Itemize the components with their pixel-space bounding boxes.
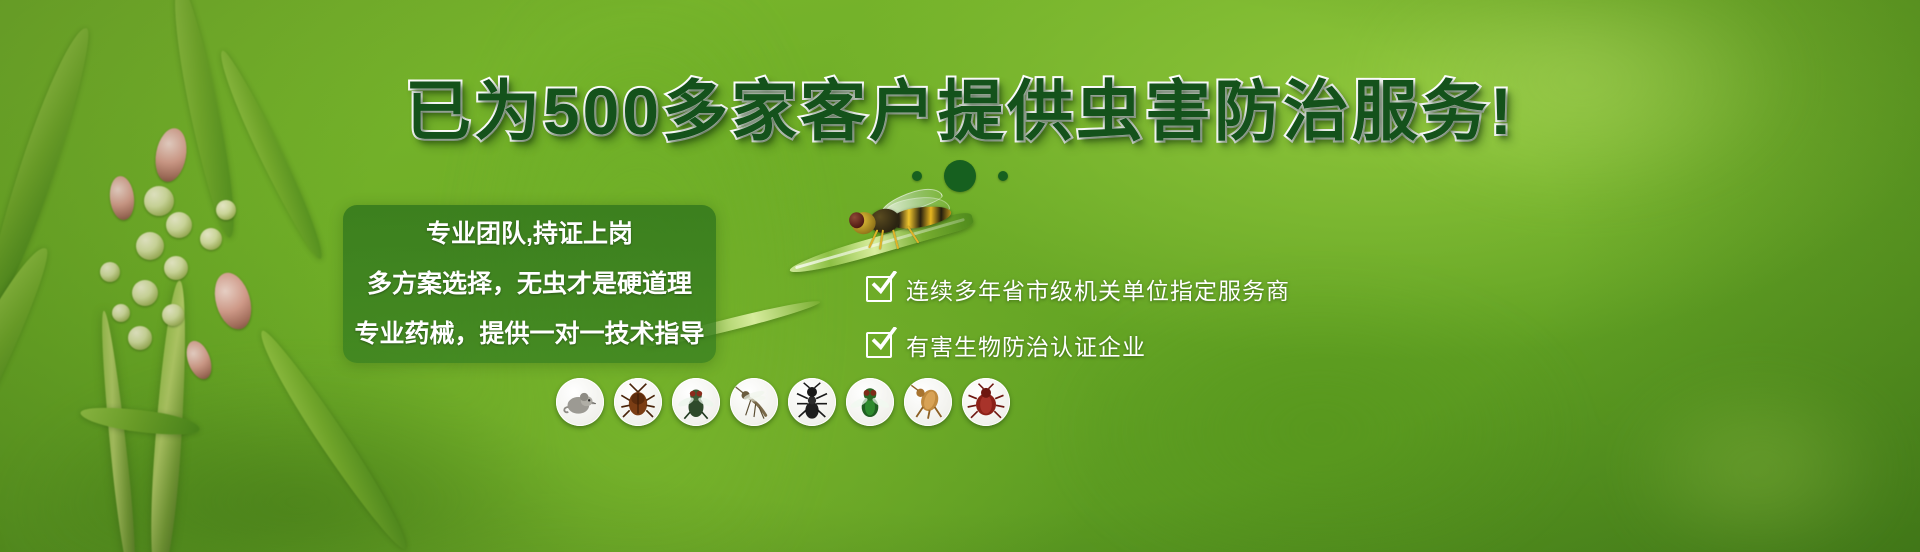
mosquito-icon[interactable]: 蚊 <box>730 378 778 426</box>
flea-icon[interactable]: 跳蚤 <box>904 378 952 426</box>
checkbox-checked-icon <box>866 276 892 302</box>
decorative-dots <box>0 160 1920 192</box>
dot-small-left-icon <box>912 171 922 181</box>
promo-banner: 已为500多家客户提供虫害防治服务! 专业团队,持证上岗 多方案选择，无虫才是硬… <box>0 0 1920 552</box>
feature-line-3: 专业药械，提供一对一技术指导 <box>343 314 716 350</box>
checklist-item: 有害生物防治认证企业 <box>866 328 1290 362</box>
pest-icon-row: 鼠 蟑螂 苍蝇 <box>556 378 1010 426</box>
feature-highlight-box: 专业团队,持证上岗 多方案选择，无虫才是硬道理 专业药械，提供一对一技术指导 <box>343 205 716 363</box>
mouse-icon[interactable]: 鼠 <box>556 378 604 426</box>
page-title: 已为500多家客户提供虫害防治服务! <box>0 78 1920 144</box>
bedbug-icon[interactable]: 臭虫 <box>962 378 1010 426</box>
checkbox-checked-icon <box>866 332 892 358</box>
credentials-checklist: 连续多年省市级机关单位指定服务商 有害生物防治认证企业 <box>866 272 1290 384</box>
feature-line-2: 多方案选择，无虫才是硬道理 <box>343 264 716 300</box>
blowfly-icon[interactable]: 绿头蝇 <box>846 378 894 426</box>
ant-icon[interactable]: 蚂蚁 <box>788 378 836 426</box>
dot-large-center-icon <box>944 160 976 192</box>
fly-icon[interactable]: 苍蝇 <box>672 378 720 426</box>
feature-line-1: 专业团队,持证上岗 <box>343 214 716 250</box>
checklist-item-label: 有害生物防治认证企业 <box>906 328 1146 362</box>
checklist-item-label: 连续多年省市级机关单位指定服务商 <box>906 272 1290 306</box>
dot-small-right-icon <box>998 171 1008 181</box>
cockroach-icon[interactable]: 蟑螂 <box>614 378 662 426</box>
checklist-item: 连续多年省市级机关单位指定服务商 <box>866 272 1290 306</box>
